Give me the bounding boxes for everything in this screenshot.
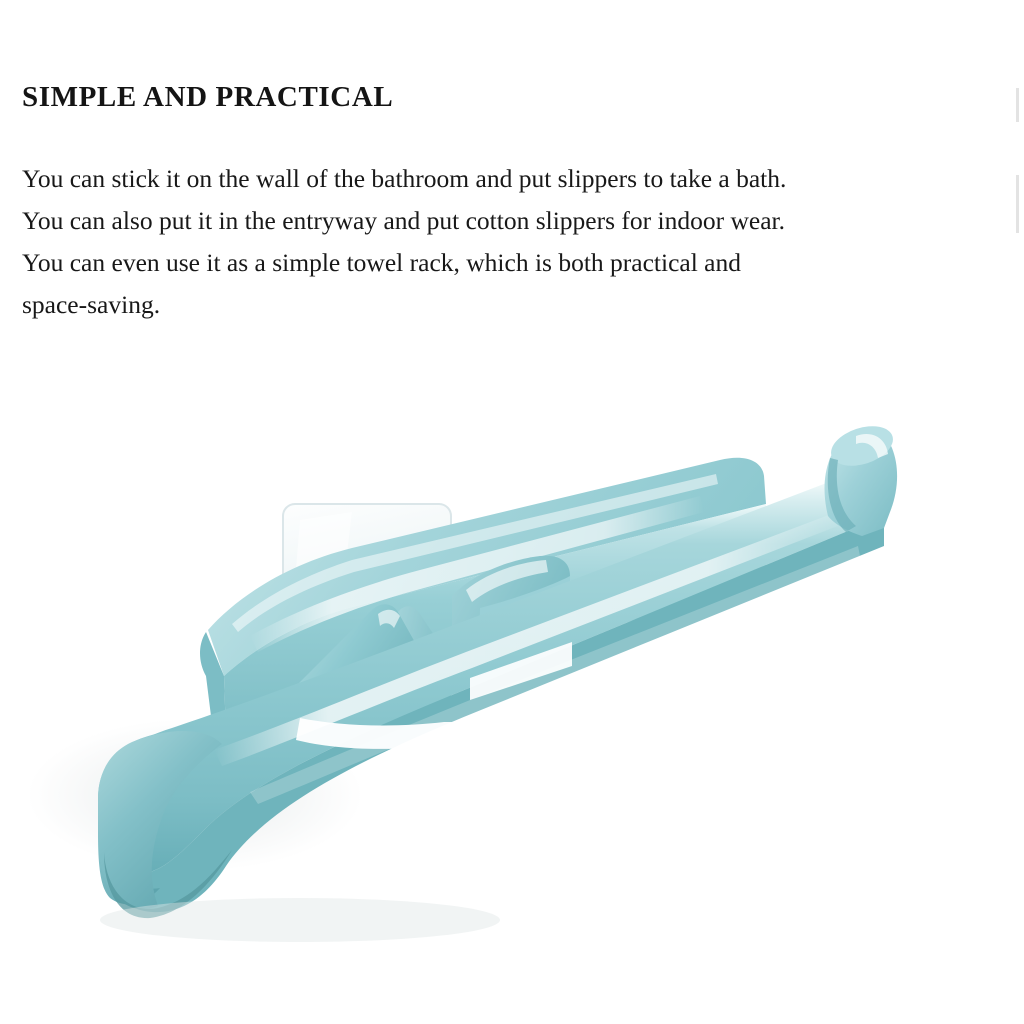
product-description-page: SIMPLE AND PRACTICAL You can stick it on… [0,0,1024,1024]
product-illustration [0,400,1024,1024]
right-end-hook [825,419,898,536]
description-line: You can even use it as a simple towel ra… [22,242,982,284]
description-line: You can also put it in the entryway and … [22,200,982,242]
page-edge-mark-bottom [1016,175,1019,233]
description-paragraph: You can stick it on the wall of the bath… [22,158,982,326]
description-text-block: SIMPLE AND PRACTICAL You can stick it on… [22,82,982,326]
page-title: SIMPLE AND PRACTICAL [22,82,982,114]
contact-shadow [100,898,500,942]
description-line: space-saving. [22,284,982,326]
page-edge-mark-top [1016,88,1019,122]
description-line: You can stick it on the wall of the bath… [22,158,982,200]
product-image [0,400,1024,1024]
